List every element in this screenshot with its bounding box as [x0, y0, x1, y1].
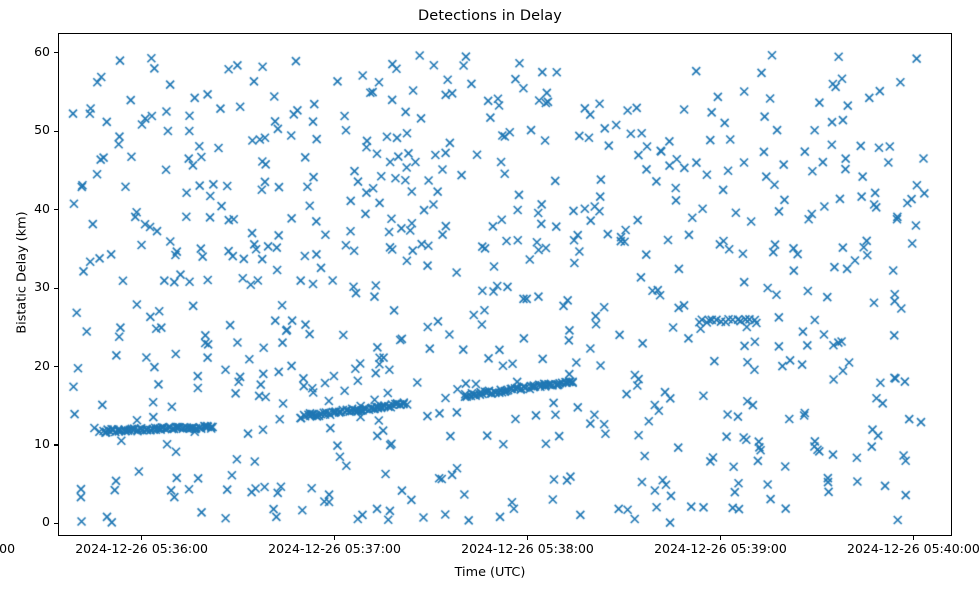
y-tick-mark: [54, 52, 58, 53]
x-axis-label: Time (UTC): [0, 565, 980, 580]
x-tick-mark: [913, 536, 914, 540]
x-tick-label: 2024-12-26 05:39:00: [654, 542, 787, 556]
y-tick-mark: [54, 366, 58, 367]
x-tick-label: 2024-12-26 05:38:00: [461, 542, 594, 556]
plot-axes-area: [58, 33, 952, 536]
y-tick-mark: [54, 288, 58, 289]
figure-canvas: Detections in Delay 0102030405060 2024-1…: [0, 0, 980, 590]
page-title: Detections in Delay: [0, 8, 980, 24]
x-tick-label: 2024-12-26 05:36:00: [75, 542, 208, 556]
x-tick-mark: [720, 536, 721, 540]
y-tick-mark: [54, 209, 58, 210]
y-tick-mark: [54, 523, 58, 524]
y-tick-mark: [54, 444, 58, 445]
x-tick-label: 2024-12-26 05:35:00: [0, 542, 15, 556]
scatter-plot-points: [59, 34, 952, 536]
x-tick-label: 2024-12-26 05:37:00: [268, 542, 401, 556]
x-tick-mark: [334, 536, 335, 540]
x-tick-label: 2024-12-26 05:40:00: [847, 542, 980, 556]
y-tick-mark: [54, 131, 58, 132]
y-axis-label: Bistatic Delay (km): [15, 13, 30, 533]
x-tick-mark: [527, 536, 528, 540]
x-tick-mark: [141, 536, 142, 540]
